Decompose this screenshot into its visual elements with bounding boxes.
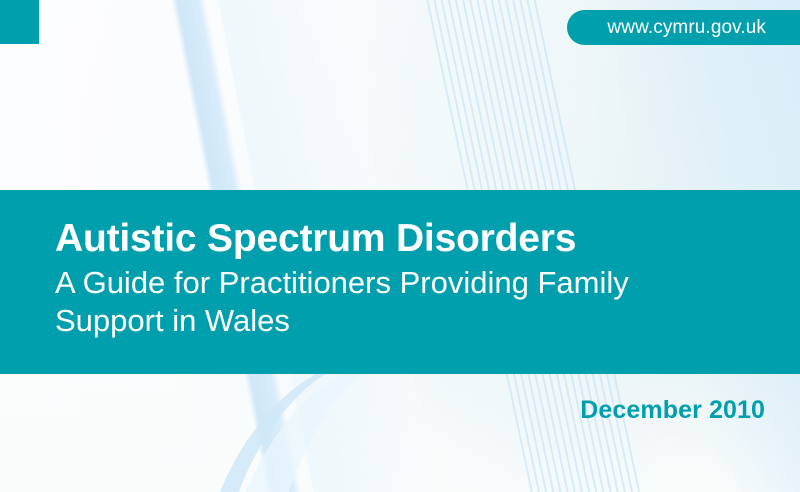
website-url-pill[interactable]: www.cymru.gov.uk	[567, 10, 800, 45]
publication-date: December 2010	[580, 396, 765, 425]
title-band: Autistic Spectrum Disorders A Guide for …	[0, 190, 800, 374]
corner-accent-block	[0, 0, 39, 44]
document-cover-page: www.cymru.gov.uk Autistic Spectrum Disor…	[0, 0, 800, 492]
document-title: Autistic Spectrum Disorders	[55, 216, 760, 262]
document-subtitle-line-2: Support in Wales	[55, 302, 760, 340]
title-block: Autistic Spectrum Disorders A Guide for …	[55, 216, 760, 340]
document-subtitle: A Guide for Practitioners Providing Fami…	[55, 264, 760, 340]
document-subtitle-line-1: A Guide for Practitioners Providing Fami…	[55, 264, 760, 302]
website-url-text: www.cymru.gov.uk	[607, 17, 766, 39]
